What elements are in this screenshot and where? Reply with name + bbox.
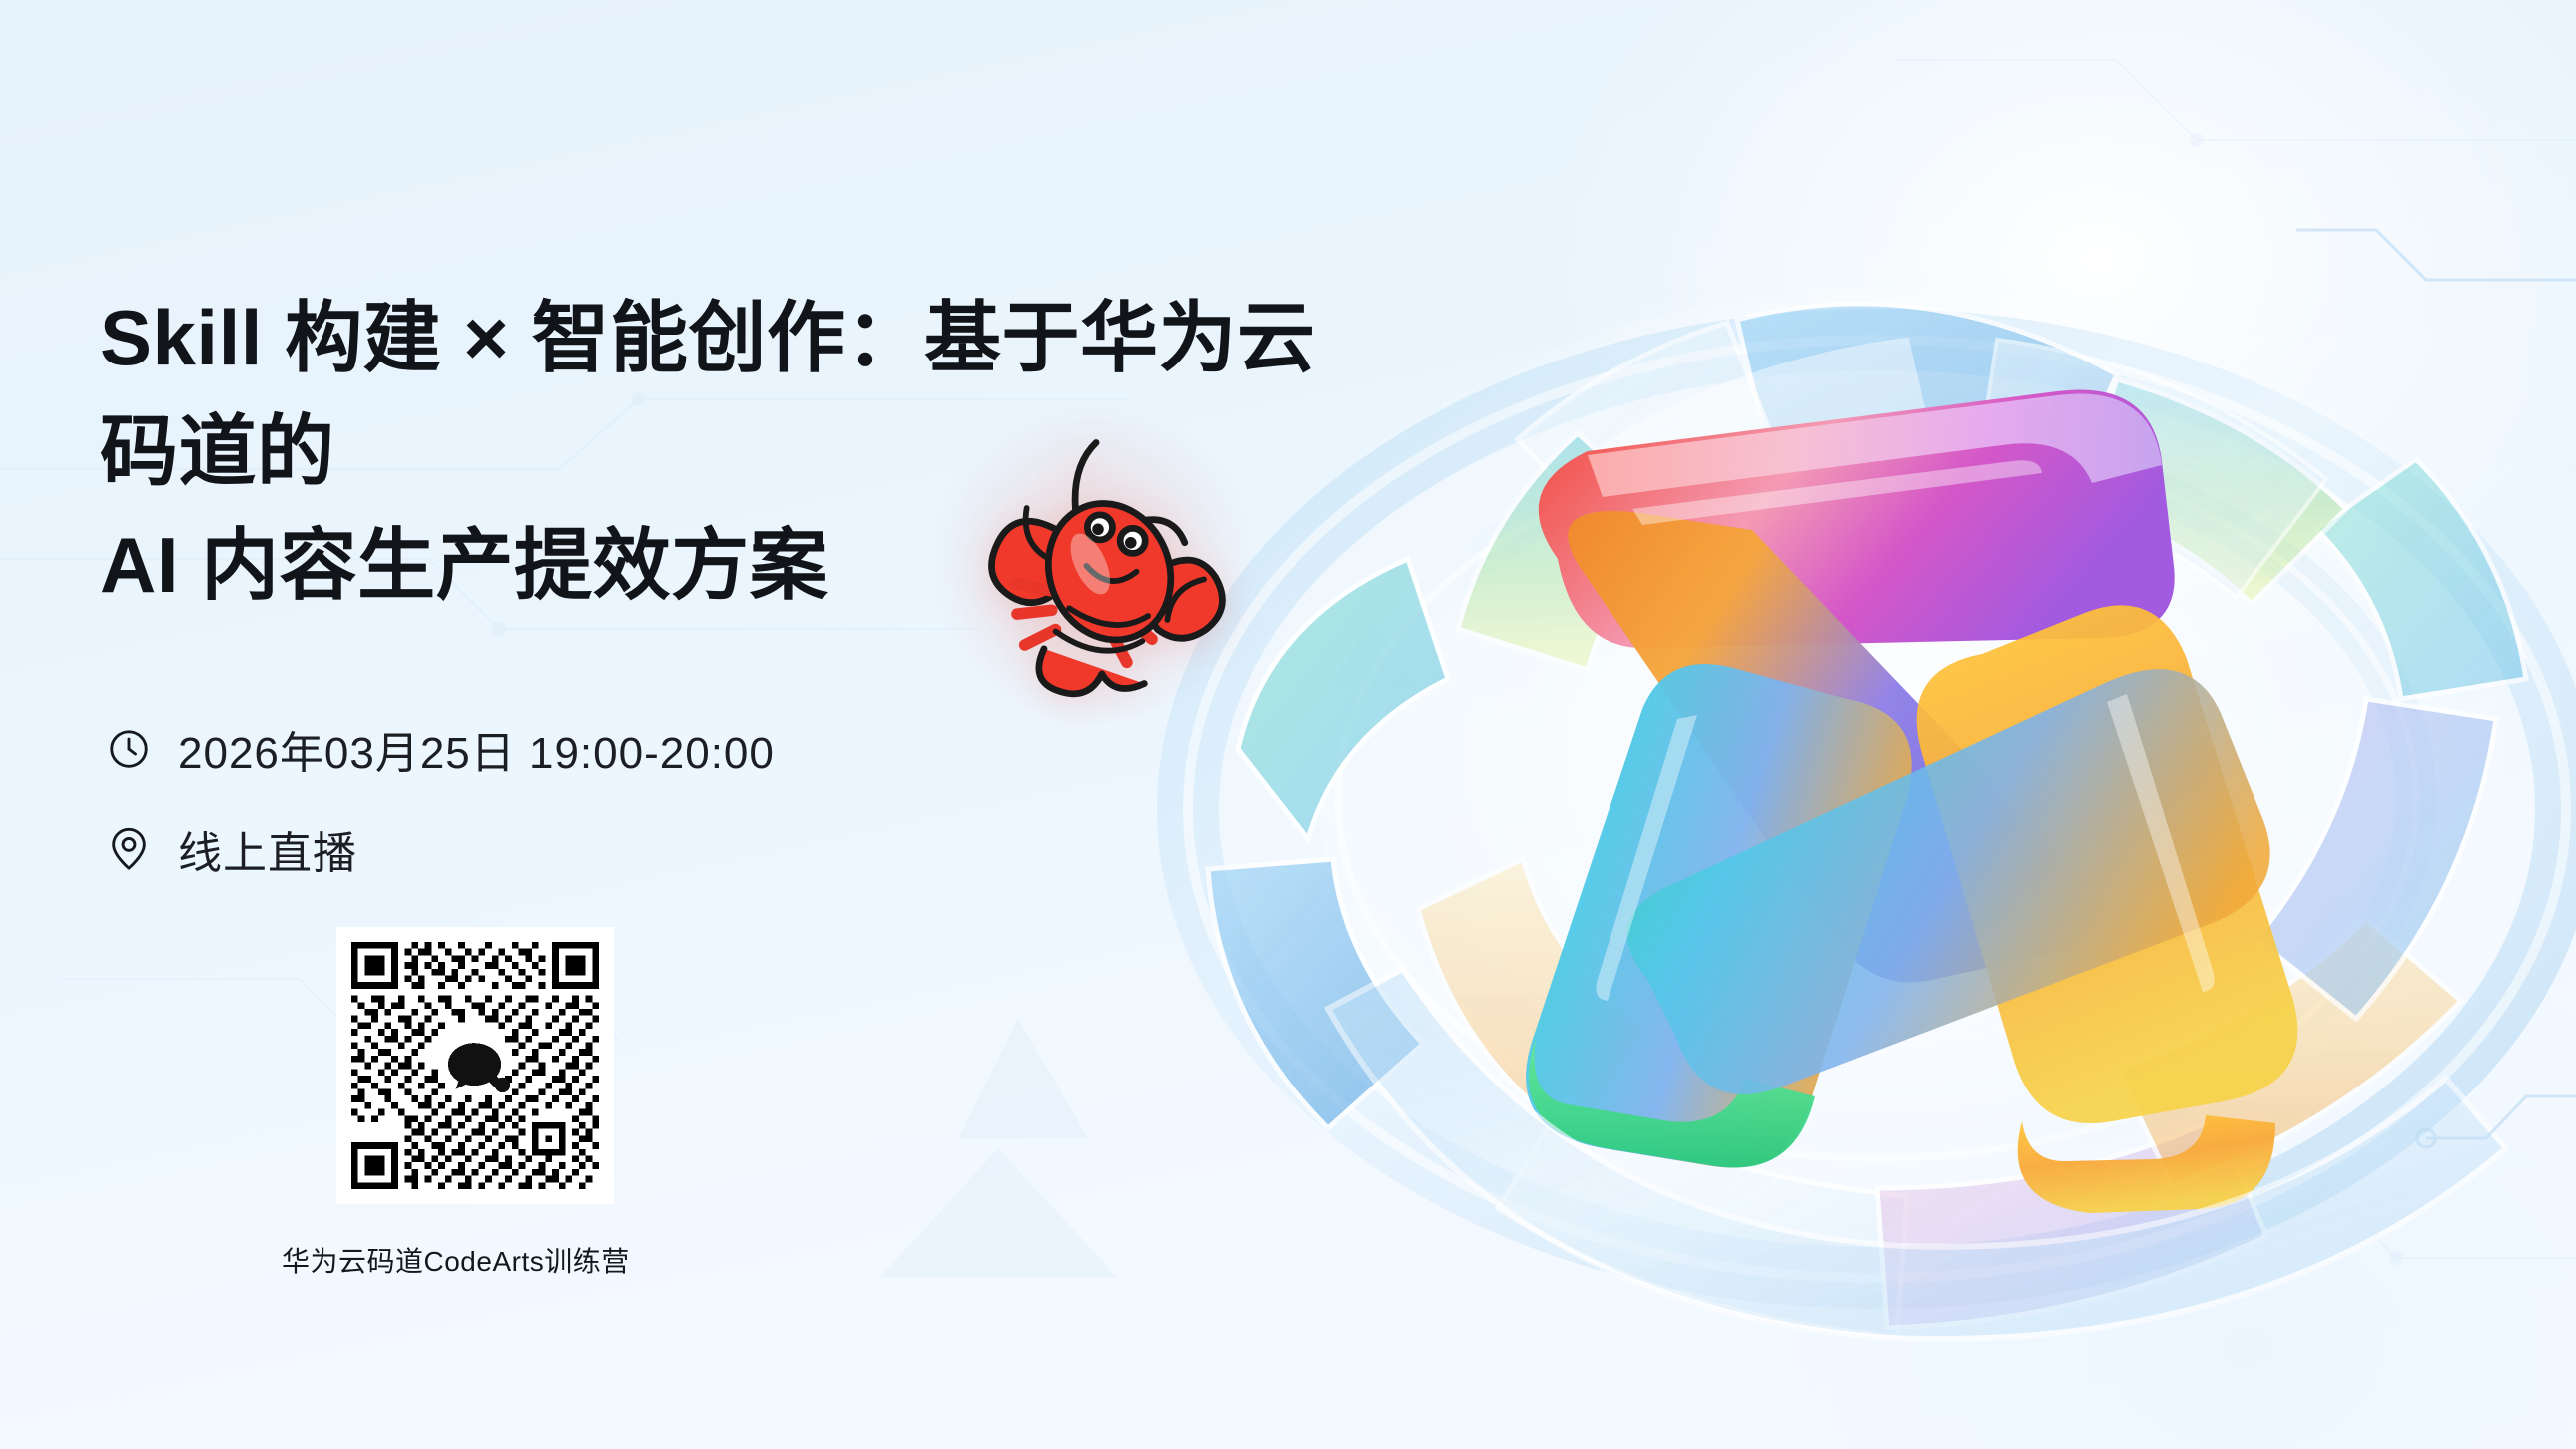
event-datetime: 2026年03月25日 19:00-20:00 bbox=[106, 717, 775, 781]
event-datetime-text: 2026年03月25日 19:00-20:00 bbox=[178, 717, 775, 781]
qr-code[interactable] bbox=[336, 927, 614, 1204]
poster-content: Skill 构建 × 智能创作：基于华为云码道的 AI 内容生产提效方案 202… bbox=[100, 0, 1378, 1449]
event-location-text: 线上直播 bbox=[178, 817, 357, 881]
qr-caption: 华为云码道CodeArts训练营 bbox=[282, 1240, 559, 1280]
lobster-emoji bbox=[964, 429, 1233, 699]
event-location: 线上直播 bbox=[106, 817, 357, 881]
qr-block: 华为云码道CodeArts训练营 bbox=[336, 927, 614, 1280]
event-poster: Skill 构建 × 智能创作：基于华为云码道的 AI 内容生产提效方案 202… bbox=[0, 0, 2576, 1449]
clock-icon bbox=[106, 726, 152, 772]
location-pin-icon bbox=[106, 826, 152, 872]
